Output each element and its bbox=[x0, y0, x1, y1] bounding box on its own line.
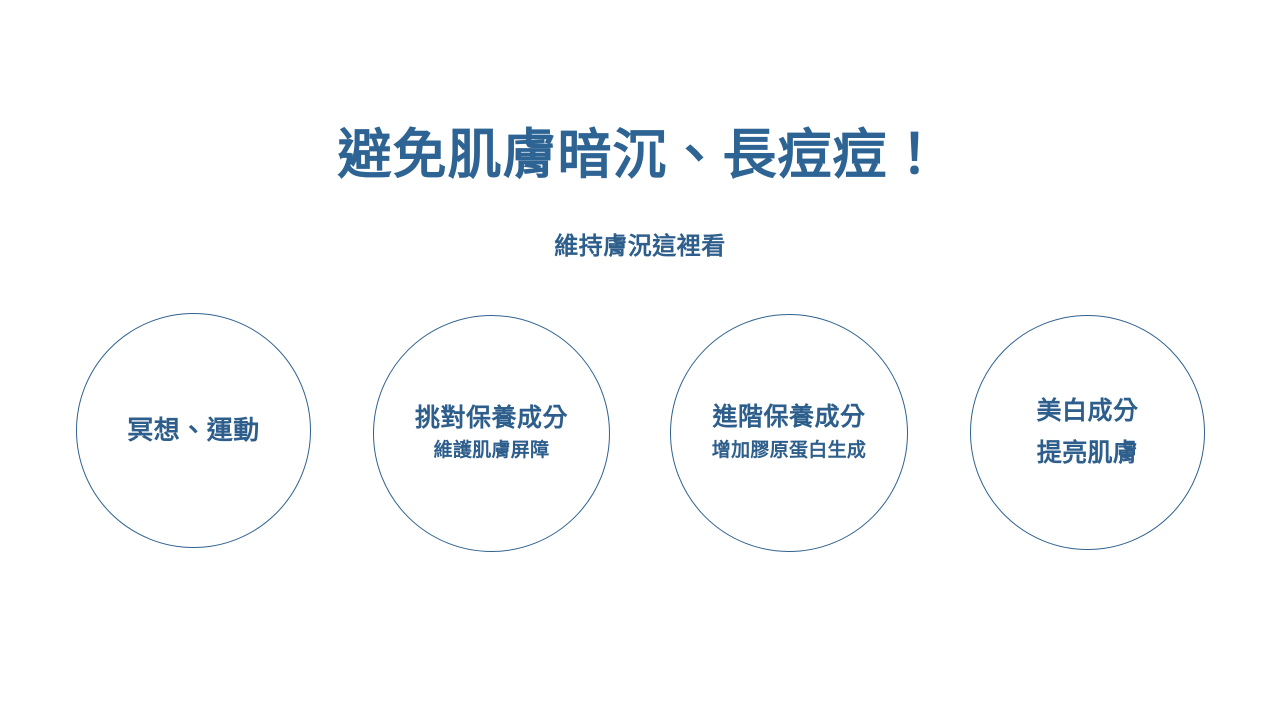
page-subtitle: 維持膚況這裡看 bbox=[0, 232, 1280, 262]
circle-4-sub-label: 提亮肌膚 bbox=[1037, 437, 1138, 470]
circle-item-choose-ingredients: 挑對保養成分 維護肌膚屏障 bbox=[373, 315, 610, 552]
circle-item-advanced-ingredients: 進階保養成分 增加膠原蛋白生成 bbox=[670, 314, 908, 552]
circle-item-meditation-exercise: 冥想、運動 bbox=[76, 313, 311, 548]
circle-1-main-label: 冥想、運動 bbox=[127, 415, 260, 447]
page-title: 避免肌膚暗沉、長痘痘！ bbox=[0, 126, 1280, 185]
circle-3-main-label: 進階保養成分 bbox=[712, 402, 865, 433]
circle-4-main-label: 美白成分 bbox=[1036, 396, 1138, 427]
circle-3-sub-label: 增加膠原蛋白生成 bbox=[712, 439, 866, 464]
slide-canvas: 避免肌膚暗沉、長痘痘！ 維持膚況這裡看 冥想、運動 挑對保養成分 維護肌膚屏障 … bbox=[0, 0, 1280, 720]
circle-item-whitening-ingredients: 美白成分 提亮肌膚 bbox=[970, 315, 1205, 550]
circle-2-main-label: 挑對保養成分 bbox=[415, 403, 568, 434]
circle-2-sub-label: 維護肌膚屏障 bbox=[434, 439, 550, 464]
